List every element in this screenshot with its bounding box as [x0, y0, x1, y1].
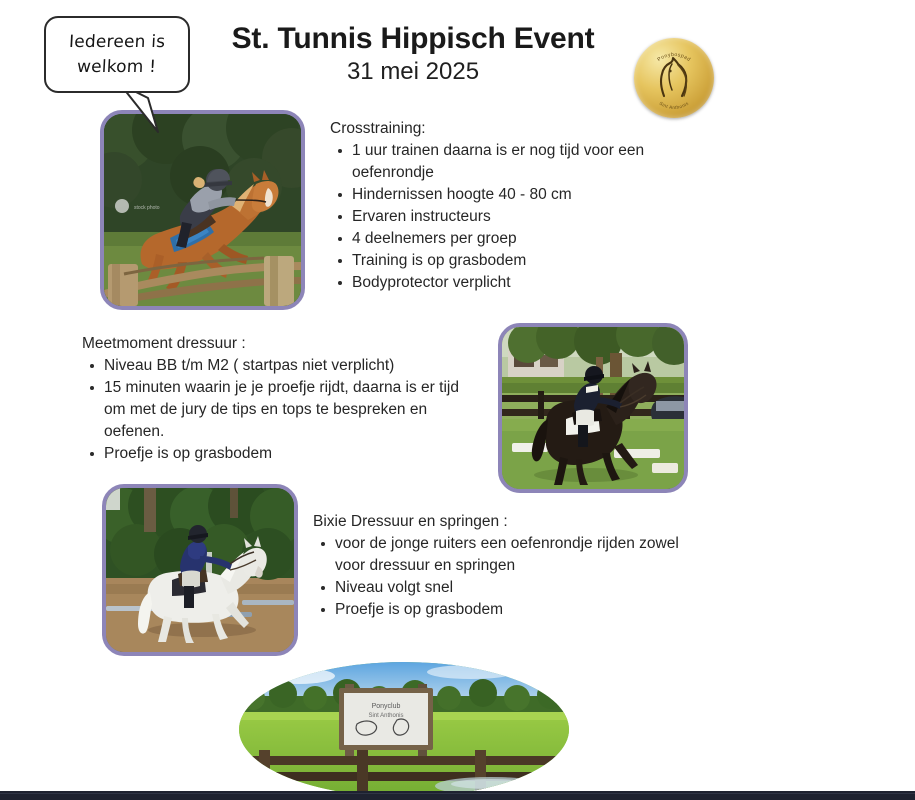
list-item: 4 deelnemers per groep: [330, 228, 700, 250]
list-item: Niveau volgt snel: [313, 577, 703, 599]
list-item: 1 uur trainen daarna is er nog tijd voor…: [330, 140, 700, 184]
event-date: 31 mei 2025: [218, 58, 608, 86]
section-heading: Crosstraining:: [330, 118, 700, 140]
photo-crosstraining: stock photo: [100, 110, 305, 310]
section-list: 1 uur trainen daarna is er nog tijd voor…: [330, 140, 700, 294]
list-item: 15 minuten waarin je je proefje rijdt, d…: [82, 377, 482, 443]
bottom-bar-highlight: [0, 793, 915, 794]
list-item: voor de jonge ruiters een oefenrondje ri…: [313, 533, 703, 577]
section-heading: Bixie Dressuur en springen :: [313, 511, 703, 533]
speech-bubble-line-2: welkom !: [77, 55, 157, 80]
photo-dressage: [498, 323, 688, 493]
svg-text:Sint Anthonis: Sint Anthonis: [658, 101, 689, 111]
list-item: Training is op grasbodem: [330, 250, 700, 272]
page-title: St. Tunnis Hippisch Event: [218, 22, 608, 56]
bottom-bar: [0, 791, 915, 800]
horse-head-icon: Ponybospad Sint Anthonis: [634, 38, 714, 118]
list-item: Niveau BB t/m M2 ( startpas niet verplic…: [82, 355, 482, 377]
list-item: Bodyprotector verplicht: [330, 272, 700, 294]
list-item: Proefje is op grasbodem: [313, 599, 703, 621]
section-bixie: Bixie Dressuur en springen : voor de jon…: [313, 511, 703, 621]
photo-bixie-pony: [102, 484, 298, 656]
svg-text:Ponybospad: Ponybospad: [656, 52, 691, 63]
photo-field-with-sign: Ponyclub Sint Anthonis: [239, 662, 569, 797]
section-list: voor de jonge ruiters een oefenrondje ri…: [313, 533, 703, 621]
section-meetmoment-dressuur: Meetmoment dressuur : Niveau BB t/m M2 (…: [82, 333, 482, 465]
section-list: Niveau BB t/m M2 ( startpas niet verplic…: [82, 355, 482, 465]
svg-text:Sint Anthonis: Sint Anthonis: [368, 713, 403, 719]
list-item: Ervaren instructeurs: [330, 206, 700, 228]
svg-text:Ponyclub: Ponyclub: [372, 703, 401, 710]
list-item: Proefje is op grasbodem: [82, 443, 482, 465]
horse-head-badge-logo: Ponybospad Sint Anthonis: [634, 38, 714, 118]
speech-bubble-line-1: Iedereen is: [68, 30, 166, 55]
welcome-speech-bubble: Iedereen is welkom !: [44, 16, 190, 93]
section-crosstraining: Crosstraining: 1 uur trainen daarna is e…: [330, 118, 700, 294]
list-item: Hindernissen hoogte 40 - 80 cm: [330, 184, 700, 206]
svg-text:stock photo: stock photo: [134, 205, 160, 211]
section-heading: Meetmoment dressuur :: [82, 333, 482, 355]
poster-page: Iedereen is welkom ! St. Tunnis Hippisch…: [0, 0, 915, 800]
